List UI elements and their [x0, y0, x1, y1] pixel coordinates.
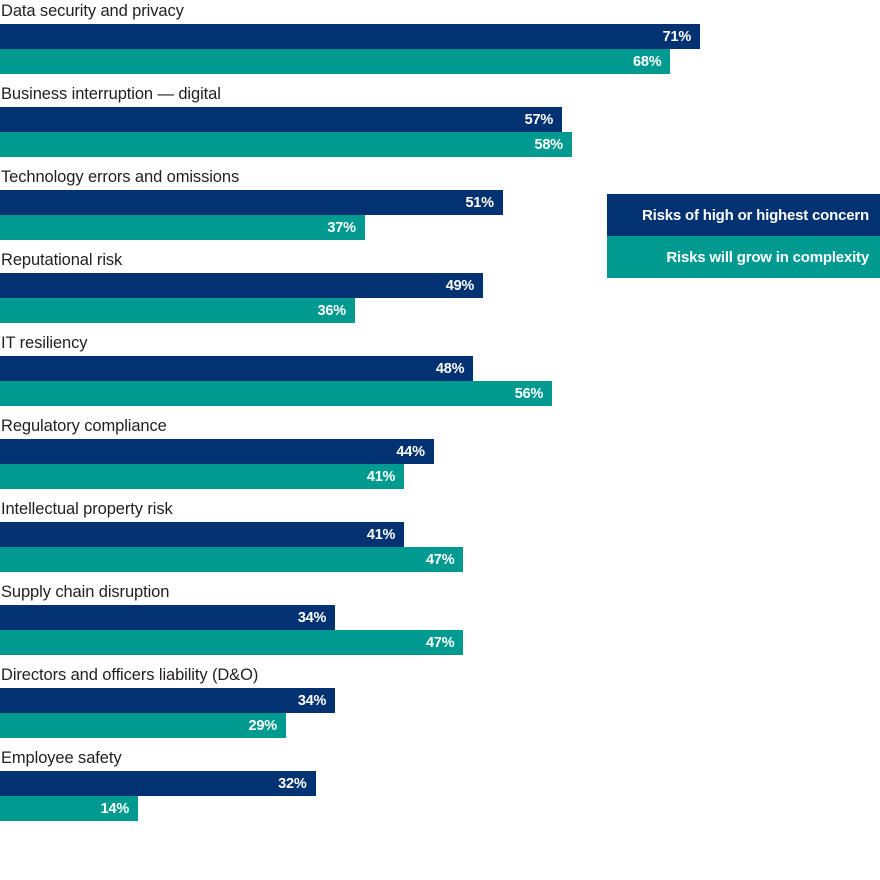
bar-high-concern[interactable]: 34%	[0, 688, 335, 713]
bar-row: 58%	[0, 132, 880, 157]
category-label: Data security and privacy	[0, 0, 880, 24]
bar-group: Directors and officers liability (D&O)34…	[0, 664, 880, 738]
bar-row: 47%	[0, 547, 880, 572]
bar-row: 57%	[0, 107, 880, 132]
bar-value-label: 51%	[465, 195, 502, 211]
bar-row: 56%	[0, 381, 880, 406]
bar-grow-complexity[interactable]: 14%	[0, 796, 138, 821]
category-label: IT resiliency	[0, 332, 880, 356]
bar-value-label: 58%	[534, 137, 571, 153]
bar-grow-complexity[interactable]: 47%	[0, 547, 463, 572]
bar-value-label: 68%	[633, 54, 670, 70]
bar-grow-complexity[interactable]: 37%	[0, 215, 365, 240]
bar-high-concern[interactable]: 49%	[0, 273, 483, 298]
bar-group: Data security and privacy71%68%	[0, 0, 880, 74]
bar-value-label: 32%	[278, 776, 315, 792]
legend-item[interactable]: Risks of high or highest concern	[607, 194, 880, 236]
bar-row: 29%	[0, 713, 880, 738]
bar-value-label: 34%	[298, 693, 335, 709]
bar-group: Employee safety32%14%	[0, 747, 880, 821]
category-label: Business interruption — digital	[0, 83, 880, 107]
bar-value-label: 44%	[396, 444, 433, 460]
category-label: Intellectual property risk	[0, 498, 880, 522]
bar-value-label: 71%	[663, 29, 700, 45]
legend-label: Risks will grow in complexity	[666, 249, 869, 266]
bar-value-label: 49%	[446, 278, 483, 294]
bar-value-label: 41%	[367, 527, 404, 543]
bar-value-label: 34%	[298, 610, 335, 626]
bar-row: 41%	[0, 464, 880, 489]
bar-grow-complexity[interactable]: 68%	[0, 49, 670, 74]
bar-row: 36%	[0, 298, 880, 323]
bar-row: 71%	[0, 24, 880, 49]
bar-value-label: 14%	[101, 801, 138, 817]
bar-high-concern[interactable]: 57%	[0, 107, 562, 132]
bar-group-list: Data security and privacy71%68%Business …	[0, 0, 880, 830]
bar-grow-complexity[interactable]: 36%	[0, 298, 355, 323]
bar-group: IT resiliency48%56%	[0, 332, 880, 406]
bar-row: 34%	[0, 688, 880, 713]
category-label: Supply chain disruption	[0, 581, 880, 605]
bar-row: 14%	[0, 796, 880, 821]
bar-high-concern[interactable]: 48%	[0, 356, 473, 381]
bar-grow-complexity[interactable]: 56%	[0, 381, 552, 406]
bar-row: 48%	[0, 356, 880, 381]
category-label: Regulatory compliance	[0, 415, 880, 439]
bar-row: 41%	[0, 522, 880, 547]
category-label: Employee safety	[0, 747, 880, 771]
bar-value-label: 56%	[515, 386, 552, 402]
category-label: Directors and officers liability (D&O)	[0, 664, 880, 688]
category-label: Technology errors and omissions	[0, 166, 880, 190]
bar-high-concern[interactable]: 44%	[0, 439, 434, 464]
bar-high-concern[interactable]: 41%	[0, 522, 404, 547]
bar-row: 68%	[0, 49, 880, 74]
bar-row: 47%	[0, 630, 880, 655]
legend-label: Risks of high or highest concern	[642, 207, 869, 224]
bar-value-label: 37%	[327, 220, 364, 236]
bar-value-label: 57%	[525, 112, 562, 128]
chart-legend: Risks of high or highest concernRisks wi…	[607, 194, 880, 278]
bar-value-label: 29%	[249, 718, 286, 734]
bar-value-label: 48%	[436, 361, 473, 377]
bar-grow-complexity[interactable]: 58%	[0, 132, 572, 157]
bar-high-concern[interactable]: 71%	[0, 24, 700, 49]
bar-group: Regulatory compliance44%41%	[0, 415, 880, 489]
bar-value-label: 47%	[426, 635, 463, 651]
bar-row: 34%	[0, 605, 880, 630]
bar-value-label: 41%	[367, 469, 404, 485]
horizontal-bar-chart: Data security and privacy71%68%Business …	[0, 0, 880, 880]
legend-item[interactable]: Risks will grow in complexity	[607, 236, 880, 278]
bar-row: 44%	[0, 439, 880, 464]
bar-grow-complexity[interactable]: 47%	[0, 630, 463, 655]
bar-value-label: 47%	[426, 552, 463, 568]
bar-high-concern[interactable]: 34%	[0, 605, 335, 630]
bar-grow-complexity[interactable]: 29%	[0, 713, 286, 738]
bar-value-label: 36%	[318, 303, 355, 319]
bar-row: 32%	[0, 771, 880, 796]
bar-group: Intellectual property risk41%47%	[0, 498, 880, 572]
bar-group: Business interruption — digital57%58%	[0, 83, 880, 157]
bar-grow-complexity[interactable]: 41%	[0, 464, 404, 489]
bar-group: Supply chain disruption34%47%	[0, 581, 880, 655]
bar-high-concern[interactable]: 51%	[0, 190, 503, 215]
bar-high-concern[interactable]: 32%	[0, 771, 316, 796]
